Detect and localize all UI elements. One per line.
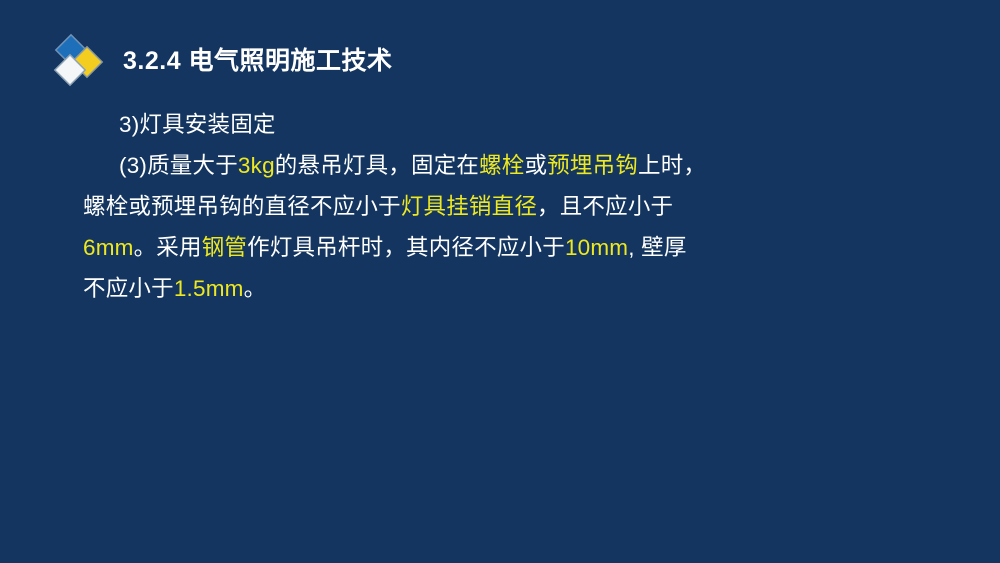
body-text: 不应小于	[83, 276, 174, 301]
body-text: 螺栓或预埋吊钩的直径不应小于	[83, 194, 401, 219]
highlighted-term: 预埋吊钩	[547, 153, 638, 178]
body-text: 的悬吊灯具，固定在	[275, 153, 479, 178]
paragraph-line: 螺栓或预埋吊钩的直径不应小于灯具挂销直径，且不应小于	[83, 186, 963, 227]
highlighted-term: 螺栓	[479, 153, 524, 178]
body-text: (3)质量大于	[119, 153, 238, 178]
paragraph-line: 不应小于1.5mm。	[83, 268, 963, 309]
slide-canvas: 3.2.4 电气照明施工技术 3)灯具安装固定(3)质量大于3kg的悬吊灯具，固…	[0, 0, 1000, 563]
body-content: 3)灯具安装固定(3)质量大于3kg的悬吊灯具，固定在螺栓或预埋吊钩上时，螺栓或…	[83, 104, 963, 309]
body-text: 上时，	[638, 153, 706, 178]
highlighted-term: 3kg	[238, 153, 275, 178]
highlighted-term: 灯具挂销直径	[401, 194, 537, 219]
body-text: 或	[525, 153, 548, 178]
body-text: , 壁厚	[628, 235, 686, 260]
body-text: 3)灯具安装固定	[119, 112, 276, 137]
slide-header: 3.2.4 电气照明施工技术	[55, 33, 393, 89]
paragraph-line: 3)灯具安装固定	[83, 104, 963, 145]
highlighted-term: 1.5mm	[174, 276, 244, 301]
body-text: 作灯具吊杆时，其内径不应小于	[247, 235, 565, 260]
paragraph-line: (3)质量大于3kg的悬吊灯具，固定在螺栓或预埋吊钩上时，	[83, 145, 963, 186]
paragraph-line: 6mm。采用钢管作灯具吊杆时，其内径不应小于10mm, 壁厚	[83, 227, 963, 268]
highlighted-term: 钢管	[202, 235, 247, 260]
highlighted-term: 10mm	[565, 235, 628, 260]
page-title: 3.2.4 电气照明施工技术	[123, 49, 393, 74]
body-text: 。	[244, 276, 267, 301]
body-text: 。采用	[134, 235, 202, 260]
body-text: ，且不应小于	[537, 194, 673, 219]
highlighted-term: 6mm	[83, 235, 134, 260]
three-diamond-logo	[55, 35, 107, 87]
